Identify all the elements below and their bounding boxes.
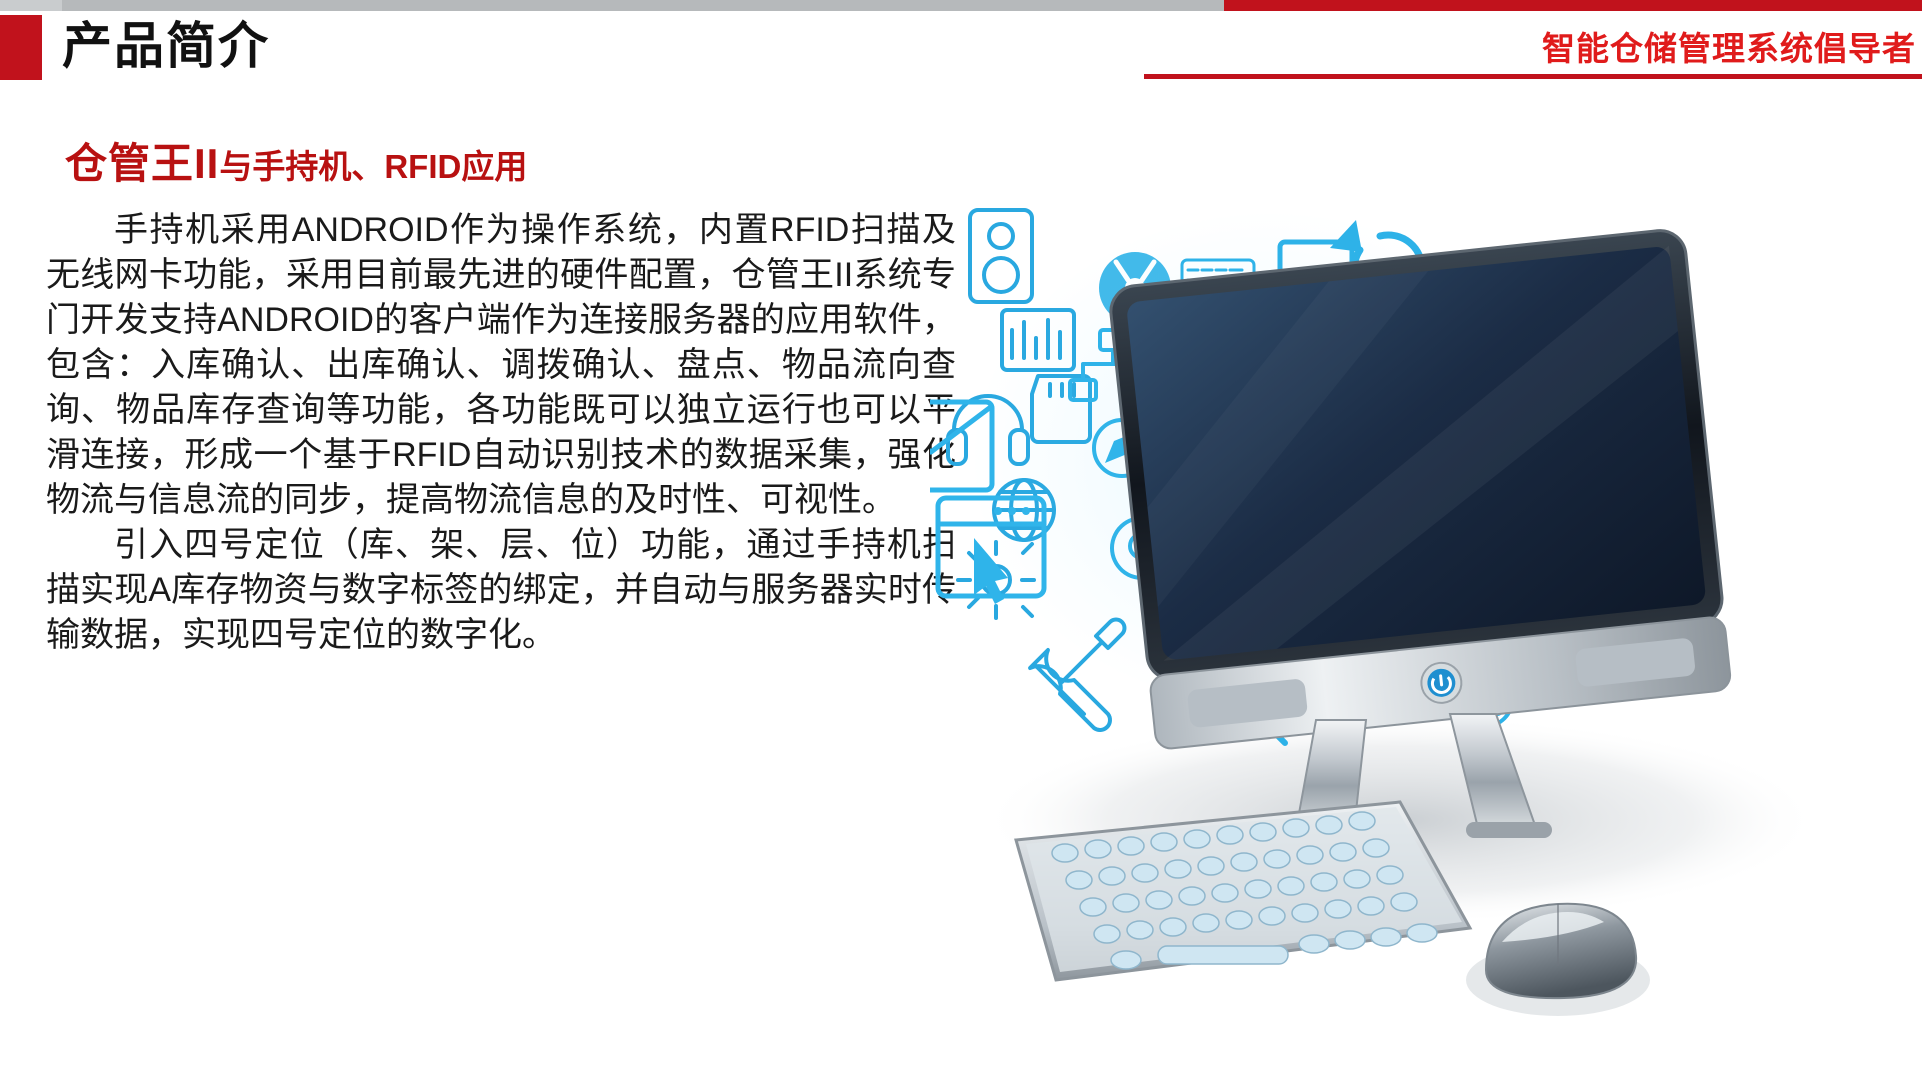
paragraph-2: 引入四号定位（库、架、层、位）功能，通过手持机扫描实现A库存物资与数字标签的绑定…: [46, 523, 956, 658]
body-copy: 手持机采用ANDROID作为操作系统，内置RFID扫描及无线网卡功能，采用目前最…: [46, 208, 956, 658]
paragraph-1: 手持机采用ANDROID作为操作系统，内置RFID扫描及无线网卡功能，采用目前最…: [46, 208, 956, 523]
speaker-icon: [970, 210, 1032, 302]
brand-slogan-underline: [1144, 74, 1922, 79]
subtitle-rest: 与手持机、RFID应用: [219, 148, 527, 185]
illustration-svg: 5: [930, 180, 1922, 1070]
title-accent-square: [0, 15, 42, 80]
top-bar-right-segment: [1224, 0, 1922, 11]
section-subtitle: 仓管王II与手持机、RFID应用: [65, 130, 527, 191]
subtitle-emphasis: 仓管王II: [65, 140, 219, 187]
top-bar-left-segment: [0, 0, 62, 11]
page-title: 产品简介: [62, 14, 270, 78]
top-bar-middle-segment: [62, 0, 1224, 11]
brand-slogan: 智能仓储管理系统倡导者: [1542, 22, 1916, 70]
computer-illustration: 5: [930, 180, 1922, 1070]
slide-product-introduction: 产品简介 智能仓储管理系统倡导者 仓管王II与手持机、RFID应用 手持机采用A…: [0, 0, 1922, 1082]
